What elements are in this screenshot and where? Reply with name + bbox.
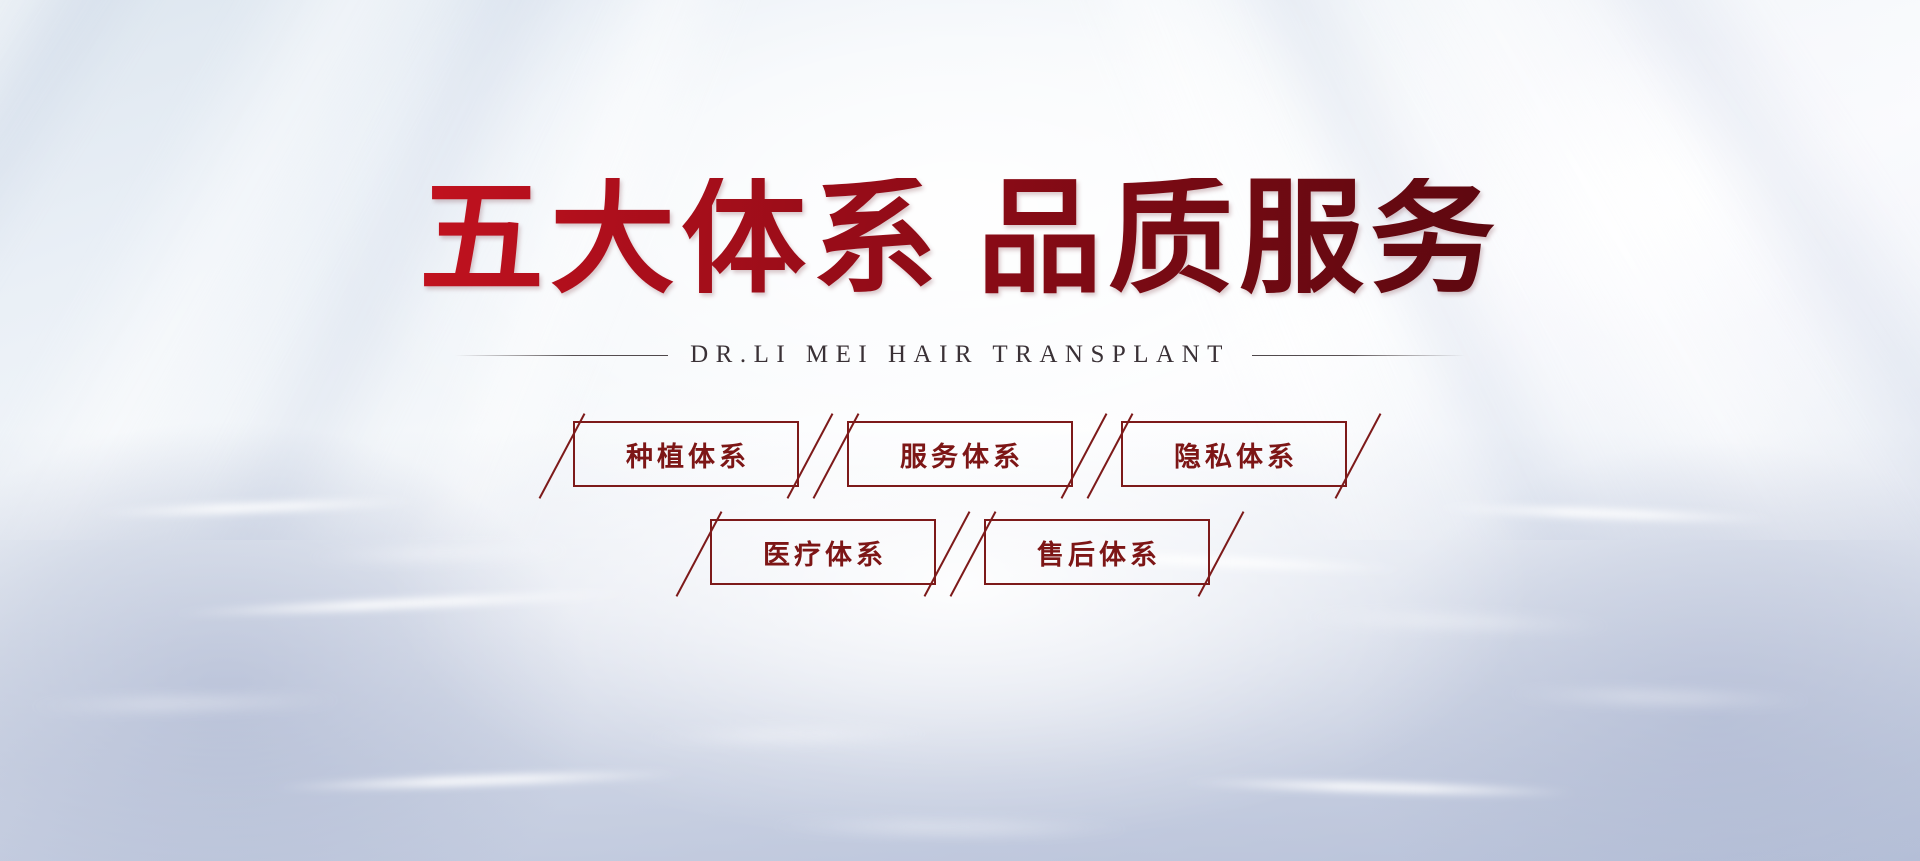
headline-part-2: 品质服务 [977, 171, 1501, 309]
system-tag-row-1: 种植体系 服务体系 隐私体系 [573, 421, 1347, 487]
subtitle: DR.LI MEI HAIR TRANSPLANT [668, 341, 1252, 369]
system-tag-label: 医疗体系 [759, 533, 887, 572]
system-tag-aftersales[interactable]: 售后体系 [984, 519, 1210, 585]
slash-left-icon [1087, 413, 1134, 499]
system-tag-label: 售后体系 [1033, 533, 1161, 572]
banner-content: 五大体系品质服务 DR.LI MEI HAIR TRANSPLANT 种植体系 … [0, 0, 1920, 861]
system-tag-label: 隐私体系 [1170, 435, 1298, 474]
slash-left-icon [950, 511, 997, 597]
system-tag-label: 服务体系 [896, 435, 1024, 474]
page-title: 五大体系品质服务 [419, 178, 1501, 303]
subtitle-rule-right [1252, 355, 1465, 356]
subtitle-row: DR.LI MEI HAIR TRANSPLANT [455, 341, 1465, 369]
slash-right-icon [1061, 413, 1108, 499]
slash-right-icon [924, 511, 971, 597]
slash-left-icon [539, 413, 586, 499]
system-tag-list: 种植体系 服务体系 隐私体系 医疗体系 [573, 421, 1347, 585]
slash-left-icon [676, 511, 723, 597]
system-tag-service[interactable]: 服务体系 [847, 421, 1073, 487]
system-tag-privacy[interactable]: 隐私体系 [1121, 421, 1347, 487]
slash-right-icon [787, 413, 834, 499]
subtitle-rule-left [455, 355, 668, 356]
slash-left-icon [813, 413, 860, 499]
system-tag-label: 种植体系 [622, 435, 750, 474]
system-tag-medical[interactable]: 医疗体系 [710, 519, 936, 585]
slash-right-icon [1198, 511, 1245, 597]
headline-part-1: 五大体系 [419, 171, 943, 309]
system-tag-planting[interactable]: 种植体系 [573, 421, 799, 487]
promo-banner: 五大体系品质服务 DR.LI MEI HAIR TRANSPLANT 种植体系 … [0, 0, 1920, 861]
system-tag-row-2: 医疗体系 售后体系 [710, 519, 1210, 585]
slash-right-icon [1335, 413, 1382, 499]
